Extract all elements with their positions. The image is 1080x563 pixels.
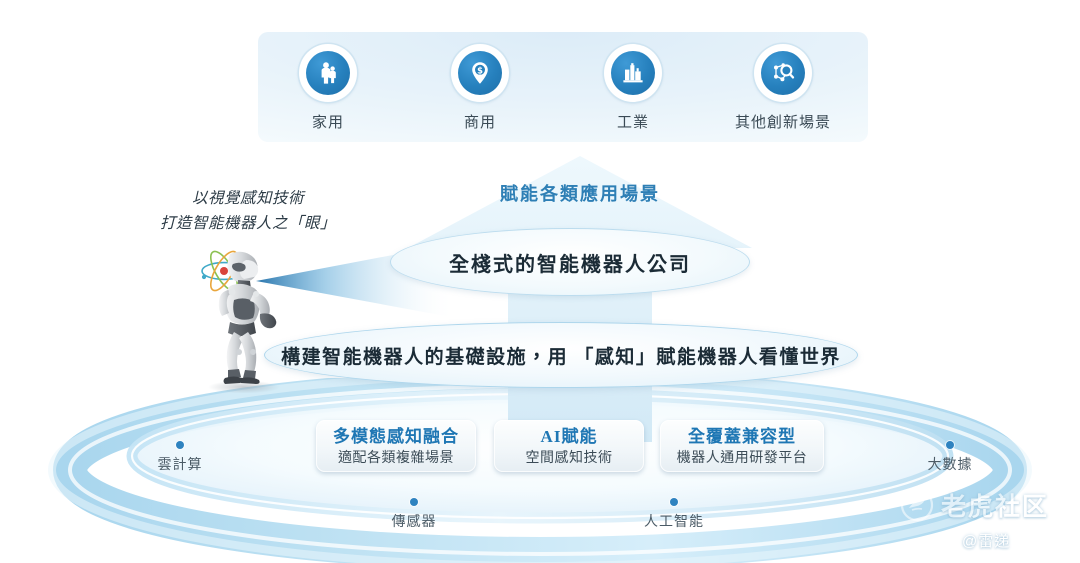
humanoid-robot-icon (186, 248, 306, 393)
scenario-icon-ring (299, 44, 357, 102)
card-title: AI賦能 (494, 427, 644, 447)
diagram-canvas: 賦能各類應用場景 全棧式的智能機器人公司 構建智能機器人的基礎設施，用 「感知」… (0, 0, 1080, 563)
tagline-line-2: 打造智能機器人之「眼」 (150, 211, 346, 236)
family-icon (306, 51, 350, 95)
ellipse-infrastructure: 構建智能機器人的基礎設施，用 「感知」賦能機器人看懂世界 (264, 322, 858, 388)
foundation-node-artificial-intelligence: 人工智能 (632, 498, 716, 531)
ellipse-company-text: 全棧式的智能機器人公司 (449, 248, 691, 277)
node-label: 人工智能 (632, 511, 716, 531)
card-subtitle: 空間感知技術 (494, 450, 644, 468)
capability-card-ai[interactable]: AI賦能 空間感知技術 (494, 420, 644, 472)
node-dot-icon (410, 498, 418, 506)
scenario-banner: 家用 $ 商用 (258, 32, 868, 142)
capability-card-multimodal[interactable]: 多模態感知融合 適配各類複雜場景 (316, 420, 476, 472)
scenario-item-industrial[interactable]: 工業 (563, 44, 703, 132)
card-title: 多模態感知融合 (316, 427, 476, 447)
scenario-label: 商用 (410, 111, 550, 132)
network-magnifier-icon (761, 51, 805, 95)
tagline-line-1: 以視覺感知技術 (150, 186, 346, 211)
watermark-brand-text: 老虎社区 (941, 487, 1049, 523)
node-label: 雲計算 (138, 454, 222, 474)
scenario-icon-ring (604, 44, 662, 102)
arrow-label: 賦能各類應用場景 (400, 180, 760, 206)
location-pin-dollar-icon: $ (458, 51, 502, 95)
factory-icon (611, 51, 655, 95)
foundation-node-sensor: 傳感器 (372, 498, 456, 531)
scenario-item-commercial[interactable]: $ 商用 (410, 44, 550, 132)
node-label: 傳感器 (372, 511, 456, 531)
tiger-logo-icon (900, 488, 934, 522)
card-title: 全覆蓋兼容型 (660, 427, 824, 447)
card-subtitle: 適配各類複雜場景 (316, 450, 476, 468)
scenario-icon-ring (754, 44, 812, 102)
node-dot-icon (670, 498, 678, 506)
scenario-label: 工業 (563, 111, 703, 132)
node-dot-icon (176, 441, 184, 449)
watermark-handle: @雷递 (962, 530, 1010, 551)
foundation-node-big-data: 大數據 (908, 441, 992, 474)
svg-text:$: $ (477, 65, 483, 75)
scenario-label: 家用 (258, 111, 398, 132)
node-label: 大數據 (908, 454, 992, 474)
scenario-item-home[interactable]: 家用 (258, 44, 398, 132)
foundation-node-cloud-computing: 雲計算 (138, 441, 222, 474)
capability-card-coverage[interactable]: 全覆蓋兼容型 機器人通用研發平台 (660, 420, 824, 472)
scenario-icon-ring: $ (451, 44, 509, 102)
scenario-label: 其他創新場景 (713, 111, 853, 132)
card-subtitle: 機器人通用研發平台 (660, 450, 824, 468)
scenario-item-other-innovation[interactable]: 其他創新場景 (713, 44, 853, 132)
watermark-brand: 老虎社区 (900, 487, 1049, 523)
node-dot-icon (946, 441, 954, 449)
tagline: 以視覺感知技術 打造智能機器人之「眼」 (150, 186, 346, 236)
ellipse-company: 全棧式的智能機器人公司 (390, 228, 750, 296)
ellipse-infrastructure-text: 構建智能機器人的基礎設施，用 「感知」賦能機器人看懂世界 (281, 342, 841, 369)
